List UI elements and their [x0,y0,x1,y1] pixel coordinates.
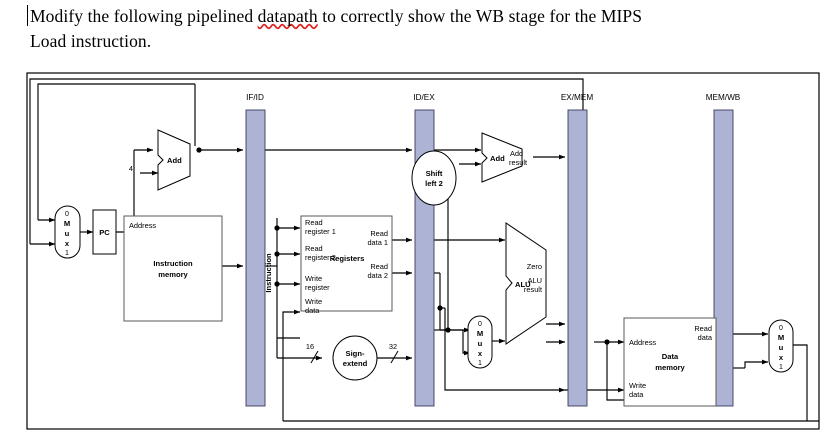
register-file-rd1-line1: Read [370,229,388,238]
add-branch-label: Add [490,154,505,163]
data-memory-readdata-line2: data [698,333,713,342]
stage-label-id-ex: ID/EX [413,93,435,102]
prompt-line1-part-b: to correctly show the WB stage for the M… [318,6,642,26]
wb-mux-label-u: u [779,343,784,352]
pipeline-register-mem-wb [714,110,733,406]
pipeline-register-if-id [246,110,265,406]
bus-slash-32 [391,351,398,363]
add-branch-unit: Add Add result [482,133,527,182]
shift-left-2-line2: left 2 [425,179,443,188]
data-memory-title-line1: Data [662,352,679,361]
pc-source-mux-label-1: 1 [65,250,69,257]
data-memory-title-line2: memory [655,363,685,372]
prompt-text: Modify the following pipelined datapath … [30,4,770,54]
sign-extend-line1: Sign- [346,349,365,358]
junction-add-out [196,147,201,152]
wb-mux: 0 M u x 1 [769,320,793,372]
register-file-rr1-line1: Read [305,218,323,227]
wb-mux-label-m: M [778,333,784,342]
instruction-memory-title-line1: Instruction [153,259,193,268]
instruction-memory-box [124,216,222,321]
pc-source-mux-label-m: M [64,219,70,228]
instruction-bus-label: Instruction [264,253,273,293]
add-pc-label: Add [167,156,182,165]
add-branch-result-line2: result [509,158,527,167]
pc-source-mux: 0 M u x 1 [55,206,80,258]
register-file: Read register 1 Read register 2 Write re… [301,216,392,315]
alu-src-mux-label-m: M [477,329,483,338]
datapath-diagram: IF/ID ID/EX EX/MEM MEM/WB 0 M u x 1 PC 4… [0,68,827,441]
sign-extend-line2: extend [343,359,368,368]
register-file-rd2-line2: data 2 [367,271,388,280]
stage-label-ex-mem: EX/MEM [561,93,593,102]
register-file-rd1-line2: data 1 [367,238,388,247]
junction-instr-3 [274,281,279,286]
stage-label-mem-wb: MEM/WB [706,93,741,102]
pipeline-register-ex-mem [568,110,587,406]
junction-instr-2 [274,251,279,256]
pc-source-mux-label-u: u [65,229,70,238]
data-memory-writedata-line2: data [629,390,644,399]
shift-left-2-shape [412,151,456,205]
pc-source-mux-label-0: 0 [65,211,69,218]
bus-slash-16 [311,351,318,363]
prompt-area: Modify the following pipelined datapath … [0,0,827,68]
sign-extend-in-width: 16 [306,342,314,351]
register-file-title: Registers [330,254,365,263]
wire-memwb-to-wbmux1 [745,362,768,368]
sign-extend-out-width: 32 [389,342,397,351]
data-memory-writedata-line1: Write [629,381,646,390]
junction-instr-1 [274,225,279,230]
text-caret [27,5,28,26]
alu-result-line1: ALU [528,276,542,285]
instruction-memory-title-line2: memory [158,270,188,279]
stage-label-if-id: IF/ID [246,93,264,102]
register-file-wr-line1: Write [305,274,322,283]
wb-mux-label-1: 1 [779,364,783,371]
alu-src-mux-label-1: 1 [478,360,482,367]
constant-four-label: 4 [129,164,133,173]
alu-result-line2: result [524,285,542,294]
alu-src-mux: 0 M u x 1 [468,316,492,368]
pc-register: PC [93,210,116,254]
alu-zero-label: Zero [527,262,542,271]
datapath-svg: IF/ID ID/EX EX/MEM MEM/WB 0 M u x 1 PC 4… [0,68,827,441]
instruction-memory: Address Instruction memory [124,216,222,321]
data-memory: Address Write data Data memory Read data [624,318,716,406]
sign-extend-shape [333,336,377,380]
alu-src-mux-label-0: 0 [478,321,482,328]
register-file-rd2-line1: Read [370,262,388,271]
alu-unit: ALU Zero ALU result [506,223,546,344]
add-pc-unit: Add [158,130,190,190]
register-file-rr2-line1: Read [305,244,323,253]
wire-wbmux-output-down [793,345,807,421]
alu-src-mux-label-u: u [478,339,483,348]
register-file-rr1-line2: register 1 [305,227,336,236]
prompt-line2: Load instruction. [30,31,151,51]
register-file-wd-line2: data [305,306,320,315]
data-memory-address-label: Address [629,338,656,347]
wire-writedata-feedback-to-regfile [283,312,300,421]
pc-register-label: PC [99,228,110,237]
shift-left-2-unit: Shift left 2 [412,151,456,205]
register-file-wr-line2: register [305,283,330,292]
instruction-memory-address-label: Address [129,221,156,230]
wb-mux-label-0: 0 [779,325,783,332]
add-branch-result-line1: Add [510,149,523,158]
register-file-wd-line1: Write [305,297,322,306]
shift-left-2-line1: Shift [426,169,443,178]
prompt-line1-part-a: Modify the following pipelined [30,6,258,26]
data-memory-readdata-line1: Read [694,324,712,333]
misspelled-word-datapath: datapath [258,6,318,26]
